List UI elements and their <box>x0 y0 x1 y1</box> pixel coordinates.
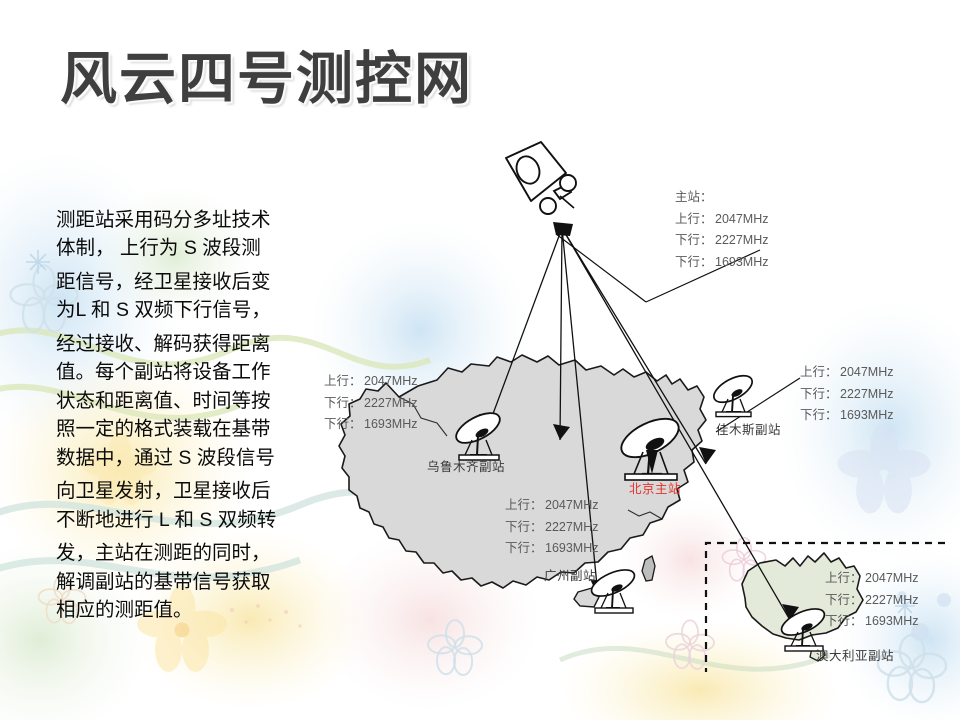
freq-downlink-2: 下行：1693MHz <box>800 405 894 427</box>
taiwan-island <box>642 556 655 581</box>
freq-block-jiamusi: 上行：2047MHz 下行：2227MHz 下行：1693MHz <box>800 362 894 427</box>
station-label-urumqi: 乌鲁木齐副站 <box>427 456 505 475</box>
freq-downlink-1: 下行：2227MHz <box>675 230 769 252</box>
slide-canvas: 风云四号测控网 测距站采用码分多址技术 体制， 上行为 S 波段测 距信号，经卫… <box>0 0 960 720</box>
dish-icon-jiamusi <box>710 370 756 416</box>
freq-block-australia: 上行：2047MHz 下行：2227MHz 下行：1693MHz <box>825 568 919 633</box>
freq-header: 主站： <box>675 187 769 209</box>
freq-downlink-1: 下行：2227MHz <box>800 384 894 406</box>
station-label-australia: 澳大利亚副站 <box>816 645 894 664</box>
freq-downlink-2: 下行：1693MHz <box>505 538 599 560</box>
freq-uplink: 上行：2047MHz <box>675 209 769 231</box>
network-diagram <box>0 0 960 720</box>
freq-downlink-2: 下行：1693MHz <box>675 252 769 274</box>
freq-block-beijing-main: 主站： 上行：2047MHz 下行：2227MHz 下行：1693MHz <box>675 187 769 273</box>
freq-uplink: 上行：2047MHz <box>324 371 418 393</box>
freq-downlink-2: 下行：1693MHz <box>825 611 919 633</box>
freq-block-guangzhou: 上行：2047MHz 下行：2227MHz 下行：1693MHz <box>505 495 599 560</box>
freq-downlink-2: 下行：1693MHz <box>324 414 418 436</box>
station-label-jiamusi: 佳木斯副站 <box>716 419 781 438</box>
freq-uplink: 上行：2047MHz <box>800 362 894 384</box>
freq-block-urumqi: 上行：2047MHz 下行：2227MHz 下行：1693MHz <box>324 371 418 436</box>
freq-downlink-1: 下行：2227MHz <box>825 590 919 612</box>
freq-downlink-1: 下行：2227MHz <box>324 393 418 415</box>
freq-uplink: 上行：2047MHz <box>825 568 919 590</box>
freq-downlink-1: 下行：2227MHz <box>505 517 599 539</box>
freq-uplink: 上行：2047MHz <box>505 495 599 517</box>
satellite-icon <box>506 142 576 214</box>
station-label-beijing-main: 北京主站 <box>629 478 681 497</box>
station-label-guangzhou: 广州副站 <box>544 565 596 584</box>
